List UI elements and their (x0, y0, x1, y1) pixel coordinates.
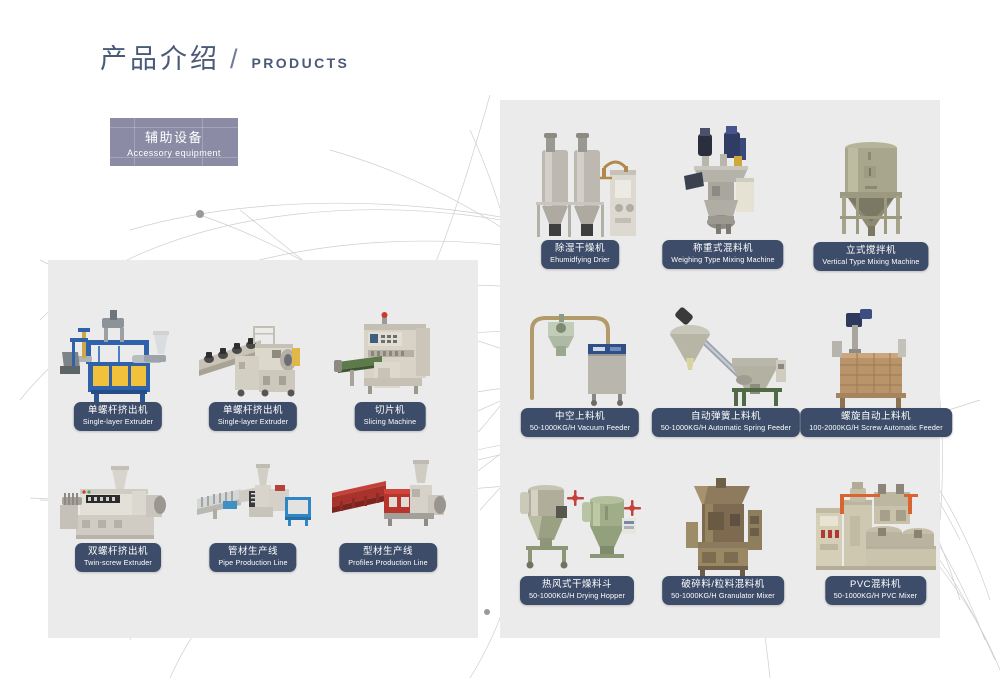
product-label[interactable]: 立式搅拌机 Vertical Type Mixing Machine (813, 242, 928, 271)
page-title-separator: / (230, 46, 238, 73)
product-label-en: 50-1000KG/H PVC Mixer (834, 591, 917, 601)
pipe-production-line-image (193, 455, 313, 545)
product-label-en: 50-1000KG/H Vacuum Feeder (530, 423, 630, 433)
dehumidifying-drier-image (516, 128, 644, 243)
profiles-production-line-image (328, 455, 448, 545)
page-title: 产品介绍 / PRODUCTS (100, 46, 349, 73)
weighing-mixing-machine-image (664, 120, 782, 240)
product-label-en: Pipe Production Line (218, 558, 287, 568)
product-label[interactable]: 螺旋自动上料机 100-2000KG/H Screw Automatic Fee… (800, 408, 952, 437)
product-label-cn: 双螺杆挤出机 (84, 546, 152, 558)
product-label[interactable]: 自动弹簧上料机 50-1000KG/H Automatic Spring Fee… (652, 408, 800, 437)
product-label-en: 50-1000KG/H Automatic Spring Feeder (661, 423, 791, 433)
product-cell-vacuum-feeder[interactable]: 中空上料机 50-1000KG/H Vacuum Feeder (516, 300, 644, 445)
product-label-cn: PVC混料机 (834, 579, 917, 591)
product-cell-drying-hopper[interactable]: 热风式干燥料斗 50-1000KG/H Drying Hopper (512, 470, 642, 610)
single-layer-extruder-image (58, 300, 178, 405)
granulator-mixer-image (664, 470, 782, 580)
product-label[interactable]: 型材生产线 Profiles Production Line (339, 543, 437, 572)
product-label-en: Single-layer Extruder (83, 417, 153, 427)
product-cell-profiles-production-line[interactable]: 型材生产线 Profiles Production Line (328, 455, 448, 585)
product-label-en: Single-layer Extruder (218, 417, 288, 427)
accessory-badge-label-en: Accessory equipment (127, 148, 221, 158)
product-cell-twin-screw-extruder[interactable]: 双螺杆挤出机 Twin-screw Extruder (58, 455, 178, 585)
product-cell-spring-feeder[interactable]: 自动弹簧上料机 50-1000KG/H Automatic Spring Fee… (662, 300, 790, 445)
product-label[interactable]: 除湿干燥机 Ehumidfying Drier (541, 240, 619, 269)
product-label[interactable]: 热风式干燥料斗 50-1000KG/H Drying Hopper (520, 576, 634, 605)
product-catalog-page: 产品介绍 / PRODUCTS 辅助设备 Accessory equipment (0, 0, 1000, 678)
product-label-cn: 立式搅拌机 (822, 245, 919, 257)
product-label-en: 50-1000KG/H Granulator Mixer (671, 591, 775, 601)
product-label[interactable]: 称重式混料机 Weighing Type Mixing Machine (662, 240, 783, 269)
product-cell-granulator-mixer[interactable]: 破碎料/粒料混料机 50-1000KG/H Granulator Mixer (664, 470, 782, 610)
product-label-cn: 中空上料机 (530, 411, 630, 423)
product-label[interactable]: 破碎料/粒料混料机 50-1000KG/H Granulator Mixer (662, 576, 784, 605)
page-title-cn: 产品介绍 (100, 46, 220, 73)
automatic-spring-feeder-image (662, 300, 790, 412)
product-label-en: Ehumidfying Drier (550, 255, 610, 265)
product-cell-pvc-mixer[interactable]: PVC混料机 50-1000KG/H PVC Mixer (808, 470, 943, 610)
product-label-en: Weighing Type Mixing Machine (671, 255, 774, 265)
product-label[interactable]: 单螺杆挤出机 Single-layer Extruder (74, 402, 162, 431)
product-label-en: Twin-screw Extruder (84, 558, 152, 568)
vacuum-feeder-image (516, 300, 644, 412)
product-label-cn: 称重式混料机 (671, 243, 774, 255)
product-cell-single-layer-extruder-2[interactable]: 单螺杆挤出机 Single-layer Extruder (193, 300, 313, 440)
accessory-equipment-badge: 辅助设备 Accessory equipment (110, 118, 238, 166)
accessory-badge-label-cn: 辅助设备 (145, 127, 203, 146)
product-label[interactable]: PVC混料机 50-1000KG/H PVC Mixer (825, 576, 926, 605)
single-layer-extruder-rollers-image (193, 300, 313, 405)
vertical-mixing-machine-image (812, 130, 930, 242)
badge-grid-line (134, 118, 135, 166)
product-label-cn: 螺旋自动上料机 (809, 411, 943, 423)
product-label-cn: 管材生产线 (218, 546, 287, 558)
drying-hopper-image (512, 470, 642, 580)
product-label-cn: 除湿干燥机 (550, 243, 610, 255)
product-label-en: 100-2000KG/H Screw Automatic Feeder (809, 423, 943, 433)
product-label[interactable]: 单螺杆挤出机 Single-layer Extruder (209, 402, 297, 431)
pvc-mixer-image (808, 470, 943, 580)
product-label-en: Profiles Production Line (348, 558, 428, 568)
product-label-en: Vertical Type Mixing Machine (822, 257, 919, 267)
product-label-cn: 破碎料/粒料混料机 (671, 579, 775, 591)
product-label[interactable]: 双螺杆挤出机 Twin-screw Extruder (75, 543, 161, 572)
product-label-en: Slicing Machine (364, 417, 417, 427)
product-label[interactable]: 中空上料机 50-1000KG/H Vacuum Feeder (521, 408, 639, 437)
product-cell-single-layer-extruder-1[interactable]: 单螺杆挤出机 Single-layer Extruder (58, 300, 178, 440)
twin-screw-extruder-image (58, 455, 178, 545)
slicing-machine-image (330, 300, 450, 405)
product-label-cn: 单螺杆挤出机 (218, 405, 288, 417)
product-label-cn: 单螺杆挤出机 (83, 405, 153, 417)
product-cell-weighing-mixing-machine[interactable]: 称重式混料机 Weighing Type Mixing Machine (664, 120, 782, 275)
screw-automatic-feeder-image (812, 295, 940, 413)
product-label[interactable]: 管材生产线 Pipe Production Line (209, 543, 296, 572)
product-label-en: 50-1000KG/H Drying Hopper (529, 591, 625, 601)
product-cell-vertical-mixing-machine[interactable]: 立式搅拌机 Vertical Type Mixing Machine (812, 130, 930, 275)
product-label-cn: 热风式干燥料斗 (529, 579, 625, 591)
product-cell-slicing-machine[interactable]: 切片机 Slicing Machine (330, 300, 450, 440)
product-cell-screw-automatic-feeder[interactable]: 螺旋自动上料机 100-2000KG/H Screw Automatic Fee… (812, 295, 940, 445)
product-cell-pipe-production-line[interactable]: 管材生产线 Pipe Production Line (193, 455, 313, 585)
product-cell-dehumidifying-drier[interactable]: 除湿干燥机 Ehumidfying Drier (516, 128, 644, 273)
product-label-cn: 切片机 (364, 405, 417, 417)
product-label[interactable]: 切片机 Slicing Machine (355, 402, 426, 431)
page-title-en: PRODUCTS (252, 55, 350, 73)
product-label-cn: 型材生产线 (348, 546, 428, 558)
product-label-cn: 自动弹簧上料机 (661, 411, 791, 423)
